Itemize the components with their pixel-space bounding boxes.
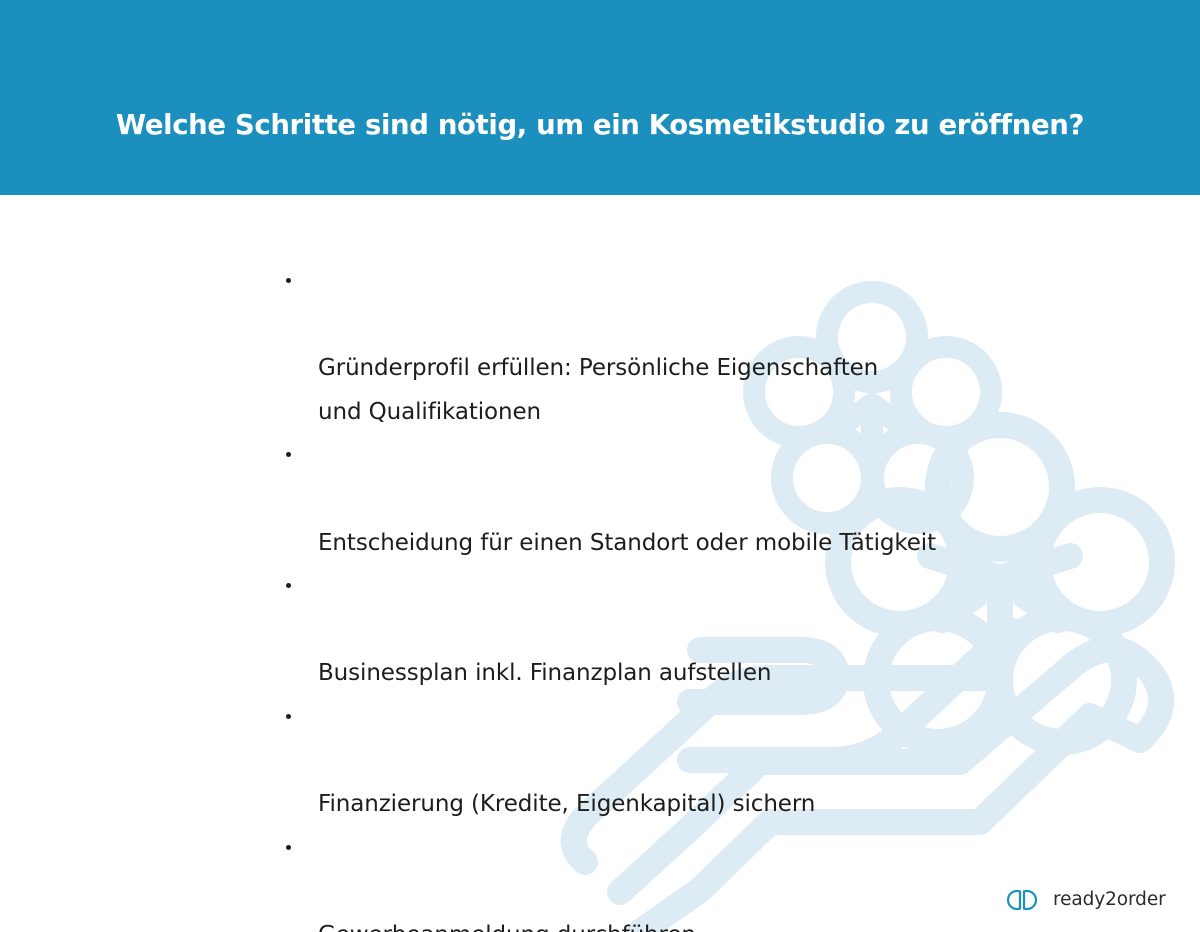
logo-wordmark: ready2order — [1053, 891, 1166, 910]
bullet-marker-icon — [286, 583, 291, 588]
list-item-label: Gründerprofil erfüllen: Persönliche Eige… — [318, 355, 878, 425]
page-title: Welche Schritte sind nötig, um ein Kosme… — [0, 18, 1200, 213]
list-item: Finanzierung (Kredite, Eigenkapital) sic… — [282, 696, 1042, 827]
bullet-marker-icon — [286, 845, 291, 850]
list-item: Gründerprofil erfüllen: Persönliche Eige… — [282, 260, 1042, 434]
list-item: Entscheidung für einen Standort oder mob… — [282, 434, 1042, 565]
steps-list: Gründerprofil erfüllen: Persönliche Eige… — [282, 260, 1042, 932]
list-item-label: Entscheidung für einen Standort oder mob… — [318, 530, 936, 556]
brand-logo: ready2order — [1000, 880, 1180, 920]
list-item-label: Businessplan inkl. Finanzplan aufstellen — [318, 660, 771, 686]
bullet-marker-icon — [286, 278, 291, 283]
bullet-marker-icon — [286, 452, 291, 457]
list-item: Businessplan inkl. Finanzplan aufstellen — [282, 565, 1042, 696]
list-item-label: Finanzierung (Kredite, Eigenkapital) sic… — [318, 791, 815, 817]
bullet-marker-icon — [286, 714, 291, 719]
ready2order-rings-icon — [1000, 887, 1044, 913]
slide-canvas: Welche Schritte sind nötig, um ein Kosme… — [0, 0, 1200, 932]
list-item-label: Gewerbeanmeldung durchführen — [318, 922, 696, 932]
list-item: Gewerbeanmeldung durchführen — [282, 827, 1042, 932]
